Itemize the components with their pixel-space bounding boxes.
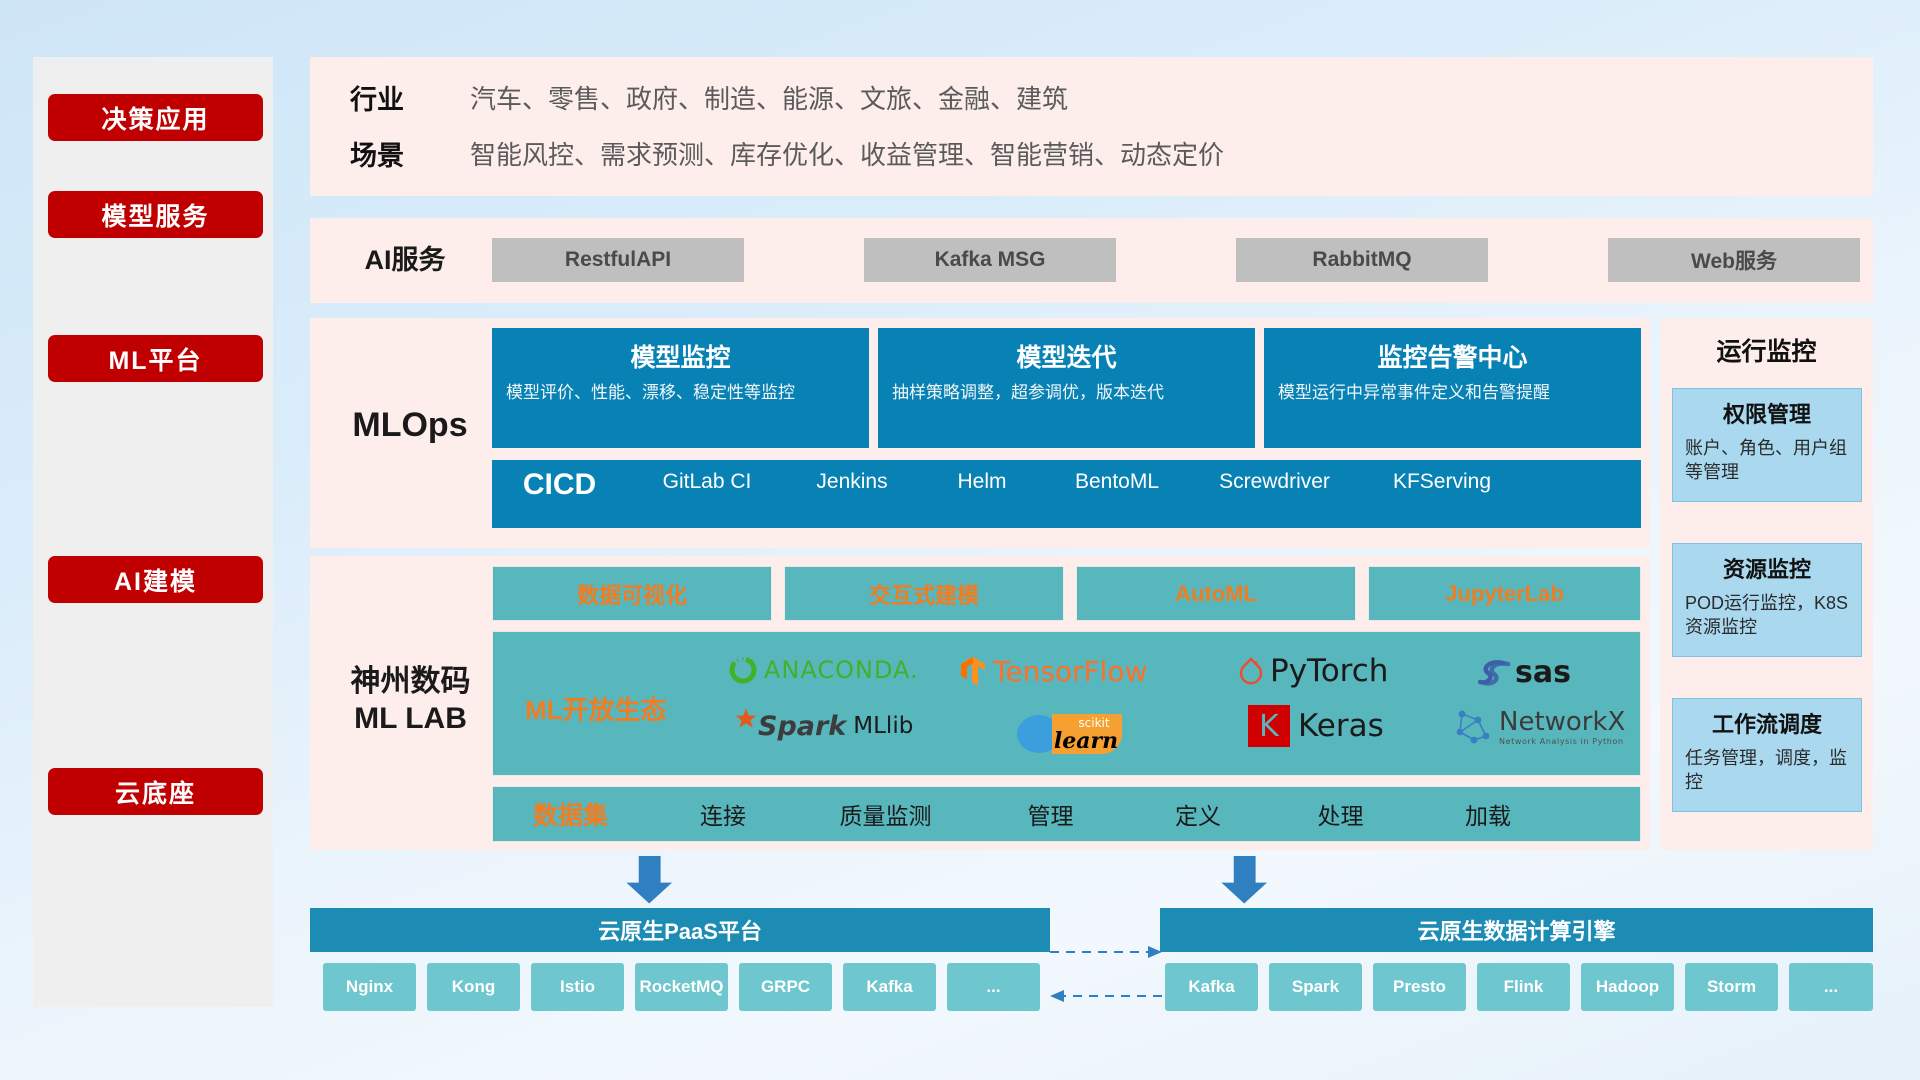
chip-label: RestfulAPI — [565, 248, 671, 272]
dataset-row: 数据集 连接 质量监测 管理 定义 处理 加载 — [492, 786, 1641, 842]
arrow-up-left — [620, 856, 690, 906]
cicd-item-bentoml[interactable]: BentoML — [1047, 460, 1187, 494]
monitor-card-resource[interactable]: 资源监控 POD运行监控，K8S资源监控 — [1672, 543, 1862, 657]
networkx-logo: NetworkX Network Analysis in Python — [1452, 706, 1625, 746]
dataset-item-quality[interactable]: 质量监测 — [798, 797, 973, 831]
anaconda-wordmark: ANACONDA. — [764, 656, 919, 684]
tech-label: Kafka — [866, 978, 912, 997]
tech-chip-hadoop[interactable]: Hadoop — [1581, 963, 1674, 1011]
service-chip-kafka-msg[interactable]: Kafka MSG — [864, 238, 1116, 282]
monitor-card-title: 权限管理 — [1673, 397, 1861, 429]
ml-lab-label: 神州数码 ML LAB — [318, 660, 503, 740]
mlops-card-model-iteration[interactable]: 模型迭代 抽样策略调整，超参调优，版本迭代 — [878, 328, 1255, 448]
tensorflow-wordmark: TensorFlow — [993, 655, 1147, 688]
monitor-card-desc: POD运行监控，K8S资源监控 — [1685, 591, 1849, 640]
keras-mark: K — [1248, 705, 1290, 747]
industry-row: 行业 汽车、零售、政府、制造、能源、文旅、金融、建筑 — [350, 75, 1068, 120]
scenario-row: 场景 智能风控、需求预测、库存优化、收益管理、智能营销、动态定价 — [350, 131, 1224, 176]
ml-lab-line2: ML LAB — [354, 700, 467, 738]
architecture-diagram: 决策应用 模型服务 ML平台 AI建模 云底座 行业 汽车、零售、政府、制造、能… — [0, 0, 1920, 1080]
cicd-row: CICD GitLab CI Jenkins Helm BentoML Scre… — [492, 460, 1641, 528]
keras-logo: K Keras — [1248, 705, 1384, 747]
rail-label: 云底座 — [115, 774, 196, 810]
tech-label: ... — [986, 978, 1000, 997]
scikit-learn-mark: scikit learn — [1014, 708, 1159, 756]
tech-label: Storm — [1707, 978, 1756, 997]
tech-label: Spark — [1292, 978, 1339, 997]
chip-label: Web服务 — [1691, 245, 1777, 275]
chip-label: Kafka MSG — [935, 248, 1046, 272]
rail-label: ML平台 — [108, 341, 202, 377]
service-chip-restfulapi[interactable]: RestfulAPI — [492, 238, 744, 282]
cicd-item-kfserving[interactable]: KFServing — [1362, 460, 1522, 494]
rail-label: 决策应用 — [101, 100, 209, 136]
rail-item-model-service[interactable]: 模型服务 — [48, 191, 263, 238]
tool-label: 交互式建模 — [869, 578, 979, 610]
anaconda-logo: ANACONDA. — [728, 655, 919, 685]
tech-chip-rocketmq[interactable]: RocketMQ — [635, 963, 728, 1011]
tech-chip-istio[interactable]: Istio — [531, 963, 624, 1011]
dataset-item-connect[interactable]: 连接 — [648, 797, 798, 831]
tool-label: AutoML — [1175, 581, 1257, 607]
scenario-key: 场景 — [350, 134, 470, 173]
tech-chip-more-left[interactable]: ... — [947, 963, 1040, 1011]
monitor-card-workflow[interactable]: 工作流调度 任务管理，调度，监控 — [1672, 698, 1862, 812]
tech-chip-flink[interactable]: Flink — [1477, 963, 1570, 1011]
tech-chip-nginx[interactable]: Nginx — [323, 963, 416, 1011]
tech-chip-storm[interactable]: Storm — [1685, 963, 1778, 1011]
networkx-tagline: Network Analysis in Python — [1499, 737, 1625, 746]
sas-mark — [1478, 658, 1512, 688]
monitor-card-desc: 任务管理，调度，监控 — [1685, 746, 1849, 795]
spark-wordmark: Spark — [758, 711, 846, 742]
dataset-item-manage[interactable]: 管理 — [973, 797, 1128, 831]
monitor-card-permission[interactable]: 权限管理 账户、角色、用户组等管理 — [1672, 388, 1862, 502]
tech-label: GRPC — [761, 978, 810, 997]
cicd-item-gitlab-ci[interactable]: GitLab CI — [627, 460, 787, 494]
spark-mllib-logo: Spark MLlib — [722, 706, 913, 746]
ml-lab-line1: 神州数码 — [351, 663, 471, 701]
tool-label: JupyterLab — [1445, 581, 1564, 607]
anaconda-mark — [728, 655, 758, 685]
dataset-item-define[interactable]: 定义 — [1128, 797, 1268, 831]
tech-label: Kafka — [1188, 978, 1234, 997]
dashed-connectors — [1048, 940, 1168, 1010]
monitor-card-title: 资源监控 — [1673, 552, 1861, 584]
cicd-item-helm[interactable]: Helm — [917, 460, 1047, 494]
tech-label: ... — [1824, 978, 1838, 997]
cloud-bar-paas[interactable]: 云原生PaaS平台 — [310, 908, 1050, 952]
ai-service-label: AI服务 — [330, 238, 480, 283]
tensorflow-mark — [960, 656, 988, 688]
cloud-bar-label: 云原生数据计算引擎 — [1417, 914, 1615, 946]
card-title: 监控告警中心 — [1278, 338, 1627, 374]
monitor-card-desc: 账户、角色、用户组等管理 — [1685, 436, 1849, 485]
tech-label: Presto — [1393, 978, 1446, 997]
cicd-item-screwdriver[interactable]: Screwdriver — [1187, 460, 1362, 494]
tech-chip-grpc[interactable]: GRPC — [739, 963, 832, 1011]
industry-key: 行业 — [350, 78, 470, 117]
tech-chip-kong[interactable]: Kong — [427, 963, 520, 1011]
networkx-mark — [1452, 706, 1496, 746]
chip-label: RabbitMQ — [1312, 248, 1411, 272]
dataset-lead: 数据集 — [493, 796, 648, 832]
tool-label: 数据可视化 — [577, 578, 687, 610]
eco-label: ML开放生态 — [525, 690, 667, 727]
tech-label: Hadoop — [1596, 978, 1659, 997]
networkx-wordmark: NetworkX — [1499, 707, 1625, 737]
spark-mark — [722, 706, 760, 746]
tool-interactive-modeling[interactable]: 交互式建模 — [784, 566, 1064, 621]
mlops-label: MLOps — [325, 395, 495, 455]
tech-label: Nginx — [346, 978, 393, 997]
card-title: 模型监控 — [506, 338, 855, 374]
rail-item-decision-app[interactable]: 决策应用 — [48, 94, 263, 141]
mlops-card-alert-center[interactable]: 监控告警中心 模型运行中异常事件定义和告警提醒 — [1264, 328, 1641, 448]
tech-chip-more-right[interactable]: ... — [1789, 963, 1873, 1011]
keras-wordmark: Keras — [1298, 708, 1384, 744]
mllib-wordmark: MLlib — [853, 713, 913, 739]
svg-text:learn: learn — [1054, 728, 1118, 754]
pytorch-logo: PyTorch — [1238, 653, 1388, 689]
dataset-item-load[interactable]: 加载 — [1413, 797, 1563, 831]
industry-value: 汽车、零售、政府、制造、能源、文旅、金融、建筑 — [470, 79, 1068, 116]
tech-chip-spark[interactable]: Spark — [1269, 963, 1362, 1011]
rail-item-ai-modeling[interactable]: AI建模 — [48, 556, 263, 603]
monitor-card-title: 工作流调度 — [1673, 707, 1861, 739]
cicd-lead: CICD — [492, 460, 627, 502]
rail-label: AI建模 — [114, 562, 197, 598]
dataset-item-process[interactable]: 处理 — [1268, 797, 1413, 831]
tech-label: RocketMQ — [639, 978, 723, 997]
rail-item-ml-platform[interactable]: ML平台 — [48, 335, 263, 382]
service-chip-web-service[interactable]: Web服务 — [1608, 238, 1860, 282]
pytorch-wordmark: PyTorch — [1270, 653, 1388, 689]
tech-chip-kafka-r[interactable]: Kafka — [1165, 963, 1258, 1011]
cloud-bar-label: 云原生PaaS平台 — [598, 914, 762, 946]
tech-label: Flink — [1504, 978, 1544, 997]
card-title: 模型迭代 — [892, 338, 1241, 374]
tool-jupyterlab[interactable]: JupyterLab — [1368, 566, 1641, 621]
tech-label: Kong — [452, 978, 495, 997]
card-desc: 模型评价、性能、漂移、稳定性等监控 — [506, 382, 855, 405]
card-desc: 模型运行中异常事件定义和告警提醒 — [1278, 382, 1627, 405]
tech-label: Istio — [560, 978, 595, 997]
scenario-value: 智能风控、需求预测、库存优化、收益管理、智能营销、动态定价 — [470, 135, 1224, 172]
sas-logo: sas — [1478, 655, 1571, 690]
arrow-up-right — [1215, 856, 1285, 906]
tech-chip-presto[interactable]: Presto — [1373, 963, 1466, 1011]
sas-wordmark: sas — [1515, 655, 1571, 690]
runtime-monitor-title: 运行监控 — [1660, 332, 1873, 368]
cicd-item-jenkins[interactable]: Jenkins — [787, 460, 917, 494]
service-chip-rabbitmq[interactable]: RabbitMQ — [1236, 238, 1488, 282]
rail-label: 模型服务 — [101, 197, 209, 233]
pytorch-mark — [1238, 656, 1264, 686]
mlops-card-model-monitor[interactable]: 模型监控 模型评价、性能、漂移、稳定性等监控 — [492, 328, 869, 448]
tensorflow-logo: TensorFlow — [960, 655, 1147, 688]
tool-automl[interactable]: AutoML — [1076, 566, 1356, 621]
tech-chip-kafka-l[interactable]: Kafka — [843, 963, 936, 1011]
cloud-bar-data-engine[interactable]: 云原生数据计算引擎 — [1160, 908, 1873, 952]
tool-data-visualization[interactable]: 数据可视化 — [492, 566, 772, 621]
card-desc: 抽样策略调整，超参调优，版本迭代 — [892, 382, 1241, 405]
rail-item-cloud-base[interactable]: 云底座 — [48, 768, 263, 815]
scikit-learn-logo: scikit learn — [1014, 708, 1159, 756]
